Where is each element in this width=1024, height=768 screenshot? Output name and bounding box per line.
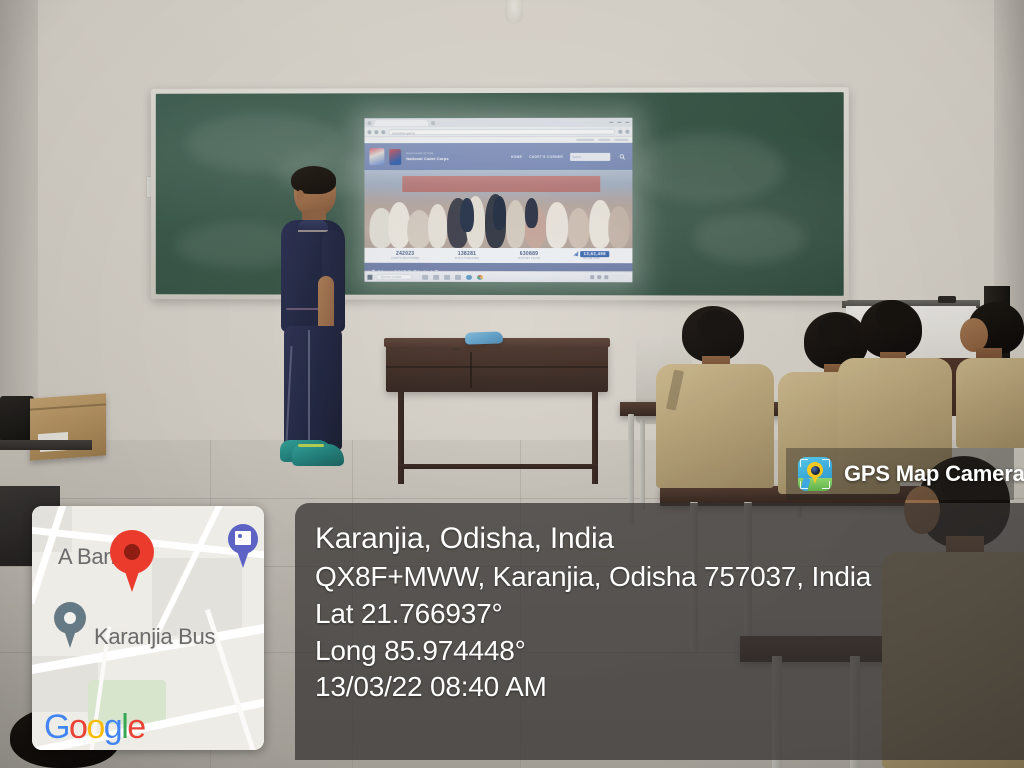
desk-drawer-divider: [470, 352, 472, 388]
stat-visitors-count: 630889 VISITORS COUNT: [498, 251, 560, 261]
desk-stretcher-rail: [398, 464, 598, 469]
search-icon[interactable]: [617, 152, 627, 161]
blue-poi-pin-icon[interactable]: [228, 524, 258, 568]
google-letter-g2: g: [104, 708, 121, 746]
gps-longitude: Long 85.974448°: [315, 633, 1024, 670]
gps-map-camera-label: GPS Map Camera: [844, 461, 1024, 487]
site-hero-banner: [364, 170, 632, 248]
cadet-seated: [656, 306, 776, 486]
minimize-icon[interactable]: [609, 122, 613, 123]
browser-nav-bar[interactable]: ncconline.gov.in: [364, 127, 632, 137]
google-letter-e: e: [127, 708, 144, 746]
network-icon[interactable]: [590, 275, 594, 279]
stat-cadets-registered: 242023 CADETS REGISTERED: [374, 251, 436, 261]
map-label-karanjia-bus: Karanjia Bus: [94, 624, 215, 650]
address-bar[interactable]: ncconline.gov.in: [388, 128, 615, 134]
india-emblem-icon: [369, 148, 384, 165]
stat-live-counter: 13,62,498 ONLINE NOW: [560, 251, 622, 261]
window-controls[interactable]: [609, 122, 629, 123]
bookmark-item[interactable]: [576, 139, 594, 141]
cadet-hair-bun: [698, 310, 732, 340]
stat-label: VISITORS COUNT: [498, 257, 560, 260]
taskbar-clock[interactable]: [611, 274, 627, 280]
site-nav-home[interactable]: HOME: [511, 154, 522, 158]
gps-map-camera-icon: [798, 457, 832, 491]
site-nav[interactable]: HOME CADET'S CORNER Search: [511, 152, 627, 161]
desk-leg: [398, 392, 404, 484]
browser-tab-bar[interactable]: [364, 118, 632, 128]
menu-icon[interactable]: [625, 129, 629, 133]
browser-tab[interactable]: [374, 120, 428, 126]
gps-map-camera-watermark: GPS Map Camera: [786, 448, 1014, 500]
mail-icon[interactable]: [455, 274, 461, 279]
ncc-logo-icon: [389, 149, 401, 165]
windows-taskbar[interactable]: Type here to search: [364, 271, 632, 283]
presenter-leg-seam: [308, 330, 310, 444]
live-stat-label: ONLINE NOW: [560, 257, 622, 260]
taskbar-system-tray[interactable]: [590, 274, 629, 280]
windows-start-icon[interactable]: [367, 274, 372, 279]
cadet-face: [960, 318, 988, 352]
profile-icon[interactable]: [618, 129, 622, 133]
stat-label: CADETS REGISTERED: [374, 257, 436, 260]
presenter-shoe-laces: [298, 444, 324, 447]
battery-icon[interactable]: [604, 275, 608, 279]
hero-crowd: [364, 186, 632, 248]
back-icon[interactable]: [367, 130, 371, 134]
address-bar-text: ncconline.gov.in: [389, 129, 614, 135]
site-brand-sub: Government of India: [406, 152, 449, 155]
cadet-hair-bun: [876, 300, 910, 330]
presenter-instructor: [278, 168, 350, 470]
site-header: Government of India National Cadet Corps…: [364, 143, 632, 170]
forward-icon[interactable]: [374, 130, 378, 134]
gps-address: QX8F+MWW, Karanjia, Odisha 757037, India: [315, 559, 1024, 596]
gps-camera-photo: ncconline.gov.in Government of India Nat…: [0, 0, 1024, 768]
presenter-ear: [297, 190, 304, 200]
red-location-pin-icon[interactable]: [110, 530, 154, 592]
reload-icon[interactable]: [381, 130, 385, 134]
bookmark-item[interactable]: [598, 139, 610, 141]
maximize-icon[interactable]: [617, 122, 621, 123]
explorer-icon[interactable]: [444, 274, 450, 279]
stat-label: POSTS PUBLISHED: [436, 257, 498, 260]
desk-leg: [592, 392, 598, 484]
google-letter-g: G: [44, 708, 69, 746]
chrome-icon[interactable]: [477, 274, 483, 279]
map-thumbnail[interactable]: A Bank Karanjia Bus Google: [32, 506, 264, 750]
bookmark-item[interactable]: [614, 139, 628, 141]
bar-chart-icon: [574, 251, 579, 256]
stat-value: 138281: [436, 251, 498, 257]
projected-browser-window: ncconline.gov.in Government of India Nat…: [364, 118, 632, 283]
cadet-uniform: [956, 358, 1024, 448]
site-search-placeholder: Search: [572, 154, 581, 158]
presenter-sleeve-stripe: [286, 308, 320, 310]
site-brand-title: National Cadet Corps: [406, 156, 449, 161]
gps-datetime: 13/03/22 08:40 AM: [315, 669, 1024, 706]
dark-object-left: [0, 396, 34, 442]
gps-place-name: Karanjia, Odisha, India: [315, 519, 1024, 559]
stat-value: 630889: [498, 251, 560, 257]
presenter-shoe: [292, 444, 344, 466]
taskbar-pinned-apps[interactable]: [422, 274, 483, 279]
taskbar-search-input[interactable]: Type here to search: [376, 274, 412, 280]
desk-pen: [452, 348, 461, 350]
site-search-input[interactable]: Search: [570, 152, 610, 160]
grey-place-pin-icon[interactable]: [54, 602, 86, 648]
volume-icon[interactable]: [597, 275, 601, 279]
blue-cloth-on-desk: [465, 331, 503, 344]
close-icon[interactable]: [625, 122, 629, 123]
taskbar-search-placeholder: Type here to search: [377, 275, 411, 281]
new-tab-icon[interactable]: [431, 121, 435, 125]
presenter-collar-stripe: [298, 230, 328, 232]
site-brand: Government of India National Cadet Corps: [406, 152, 449, 161]
site-stats-strip: 242023 CADETS REGISTERED 138281 POSTS PU…: [364, 248, 632, 263]
google-letter-o1: o: [69, 708, 86, 746]
stat-posts-published: 138281 POSTS PUBLISHED: [436, 251, 498, 261]
widgets-icon[interactable]: [433, 274, 439, 279]
gps-info-panel: Karanjia, Odisha, India QX8F+MWW, Karanj…: [295, 503, 1024, 760]
wall-right-return: [994, 0, 1024, 330]
tab-favicon: [367, 121, 371, 125]
gps-latitude: Lat 21.766937°: [315, 596, 1024, 633]
google-logo: Google: [44, 710, 145, 744]
cadet-seated-profile: [962, 302, 1024, 442]
presenter-track-pants: [284, 326, 342, 450]
task-view-icon[interactable]: [422, 274, 428, 279]
stat-value: 242023: [374, 251, 436, 257]
ceiling-fixture: [505, 0, 523, 24]
edge-icon[interactable]: [466, 274, 472, 279]
side-table: [0, 440, 92, 450]
chair-leg: [640, 420, 645, 510]
live-stat-value: 13,62,498: [581, 251, 609, 257]
google-letter-o2: o: [86, 708, 103, 746]
desk-drawer-divider: [386, 366, 608, 368]
site-nav-cadets-corner[interactable]: CADET'S CORNER: [529, 154, 563, 158]
